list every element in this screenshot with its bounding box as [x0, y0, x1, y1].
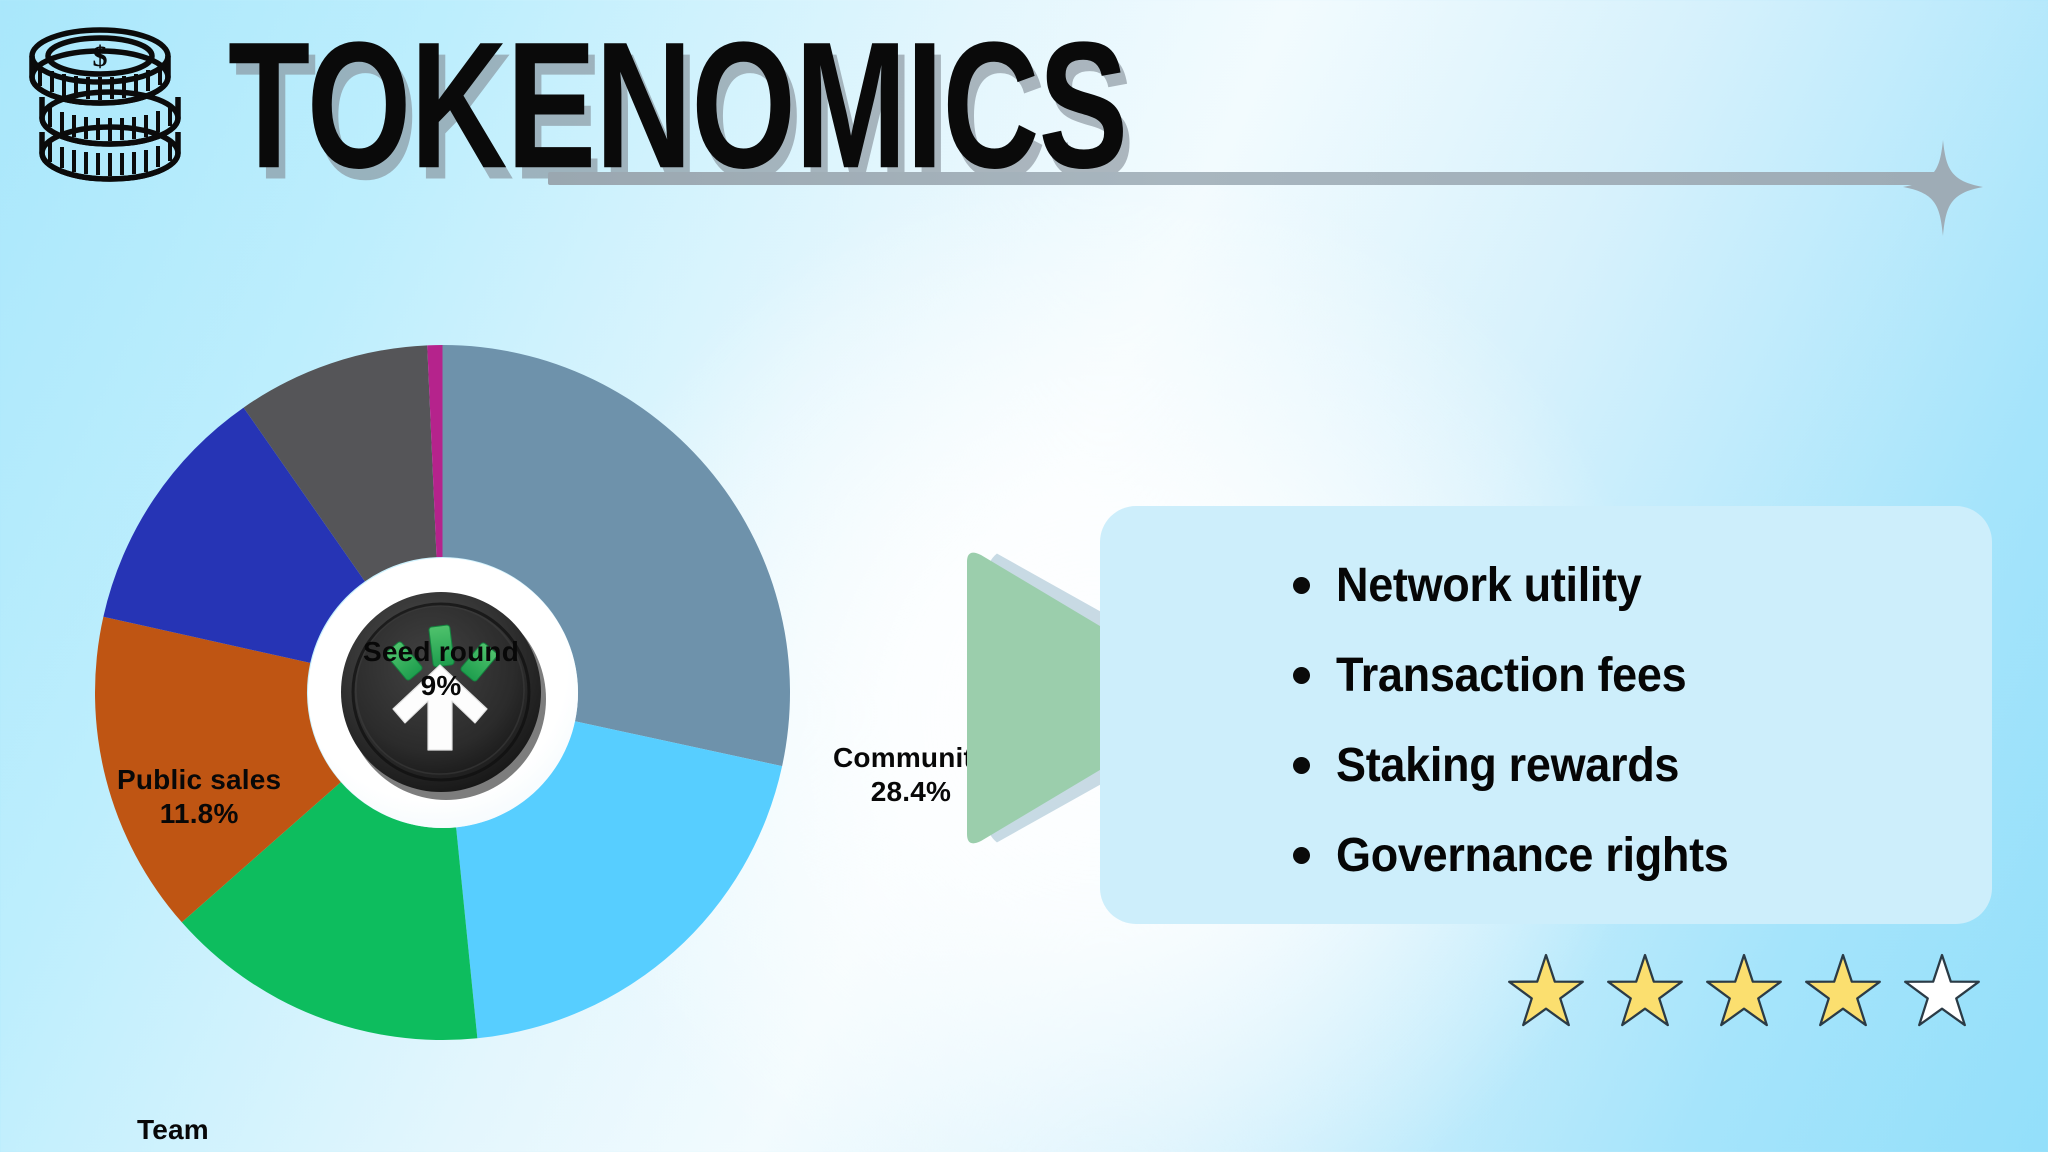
list-item-label: Staking rewards: [1336, 737, 1679, 793]
divider-line: [548, 172, 1938, 185]
label-percent: 9%: [363, 669, 519, 703]
label-name: Seed round: [363, 636, 519, 667]
chart-label-team: Team 15%: [137, 1113, 209, 1152]
rating-stars[interactable]: [1502, 948, 1986, 1036]
list-item[interactable]: Staking rewards: [1293, 720, 1993, 810]
star-icon[interactable]: [1700, 948, 1788, 1036]
label-name: Team: [137, 1114, 209, 1145]
bullet-dot-icon: [1293, 577, 1310, 594]
chart-label-seed-round: Seed round 9%: [363, 635, 519, 703]
label-name: Public sales: [117, 764, 281, 795]
bullet-dot-icon: [1293, 757, 1310, 774]
bullet-dot-icon: [1293, 847, 1310, 864]
tokenomics-donut-chart: Seed round 9% Public sales 11.8% Team 15…: [95, 345, 790, 1040]
star-icon[interactable]: [1799, 948, 1887, 1036]
header-divider: [548, 150, 2000, 210]
star-icon[interactable]: [1601, 948, 1689, 1036]
list-item[interactable]: Network utility: [1293, 540, 1993, 630]
svg-text:$: $: [93, 40, 108, 73]
four-point-star-icon: [1888, 140, 1998, 236]
star-icon[interactable]: [1502, 948, 1590, 1036]
coin-stack-icon: $: [20, 14, 210, 194]
list-item[interactable]: Governance rights: [1293, 810, 1993, 900]
list-item-label: Transaction fees: [1336, 647, 1686, 703]
utilities-list: Network utility Transaction fees Staking…: [1293, 540, 1993, 900]
label-percent: 11.8%: [117, 797, 281, 831]
label-percent: 15%: [137, 1147, 209, 1152]
list-item[interactable]: Transaction fees: [1293, 630, 1993, 720]
star-icon[interactable]: [1898, 948, 1986, 1036]
bullet-dot-icon: [1293, 667, 1310, 684]
chart-label-public-sales: Public sales 11.8%: [117, 763, 281, 831]
list-item-label: Governance rights: [1336, 827, 1729, 883]
list-item-label: Network utility: [1336, 557, 1642, 613]
